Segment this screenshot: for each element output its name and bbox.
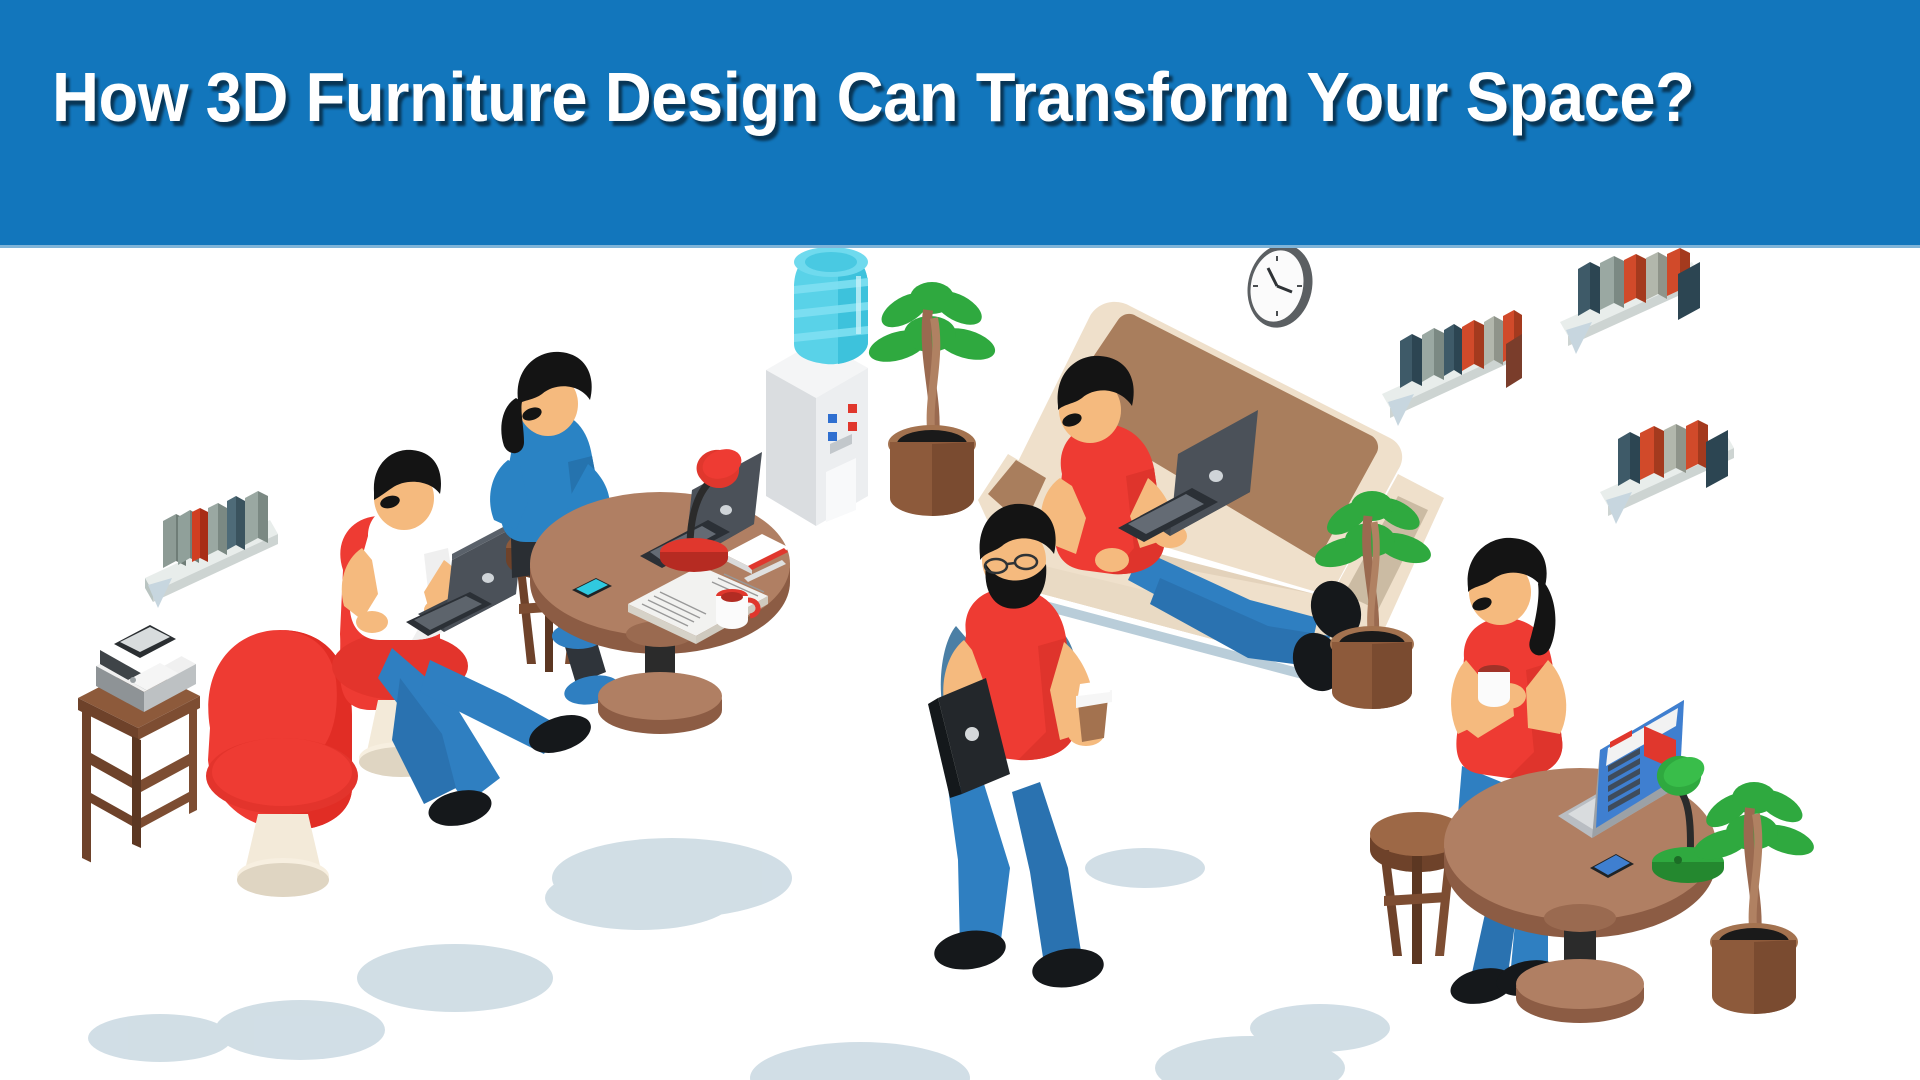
wall-shelf-books-right — [1600, 420, 1734, 524]
page-title: How 3D Furniture Design Can Transform Yo… — [52, 54, 1694, 140]
header-banner: How 3D Furniture Design Can Transform Yo… — [0, 0, 1920, 248]
wall-shelf-books-top-right — [1560, 248, 1700, 354]
isometric-office-illustration — [0, 248, 1920, 1080]
potted-palm-right — [1690, 782, 1817, 1014]
wall-clock — [1240, 248, 1320, 334]
potted-palm-left — [865, 282, 998, 516]
page-root: How 3D Furniture Design Can Transform Yo… — [0, 0, 1920, 1080]
printer-on-stool — [78, 622, 200, 862]
wall-shelf-books-mid — [1382, 310, 1522, 426]
wall-shelf-books-left — [145, 491, 278, 608]
water-cooler — [766, 248, 868, 526]
illustration-scene — [0, 248, 1920, 1080]
coffee-cup-held — [1478, 665, 1510, 707]
coffee-cup-togo — [1076, 680, 1112, 742]
